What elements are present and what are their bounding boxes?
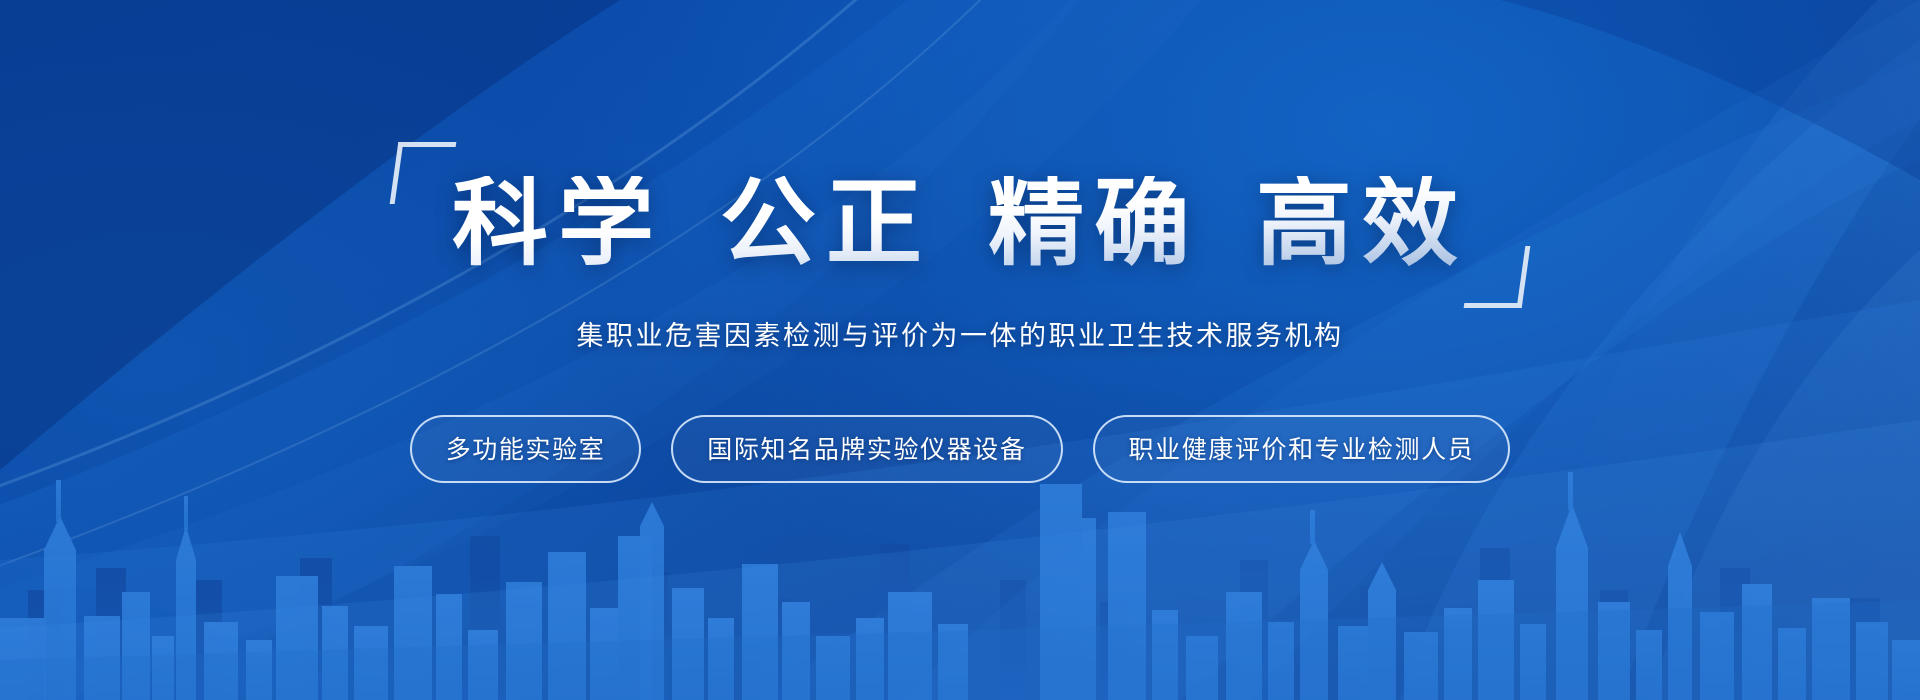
feature-pill-equipment[interactable]: 国际知名品牌实验仪器设备 <box>671 415 1062 483</box>
page-title: 科学 公正 精确 高效 <box>452 176 1468 272</box>
feature-pill-lab[interactable]: 多功能实验室 <box>410 415 642 483</box>
headline-block: 科学 公正 精确 高效 <box>394 176 1526 272</box>
banner-subtitle: 集职业危害因素检测与评价为一体的职业卫生技术服务机构 <box>577 314 1344 353</box>
headline-word-2: 公正 <box>720 176 932 272</box>
banner-content: 科学 公正 精确 高效 集职业危害因素检测与评价为一体的职业卫生技术服务机构 多… <box>0 0 1920 700</box>
hero-banner: 科学 公正 精确 高效 集职业危害因素检测与评价为一体的职业卫生技术服务机构 多… <box>0 0 1920 700</box>
headline-word-3: 精确 <box>988 176 1200 272</box>
feature-pill-group: 多功能实验室 国际知名品牌实验仪器设备 职业健康评价和专业检测人员 <box>410 415 1511 483</box>
bracket-open-icon <box>390 142 457 204</box>
feature-pill-staff[interactable]: 职业健康评价和专业检测人员 <box>1093 415 1511 483</box>
headline-word-1: 科学 <box>452 176 664 272</box>
headline-word-4: 高效 <box>1256 176 1468 272</box>
bracket-close-icon <box>1464 246 1531 308</box>
